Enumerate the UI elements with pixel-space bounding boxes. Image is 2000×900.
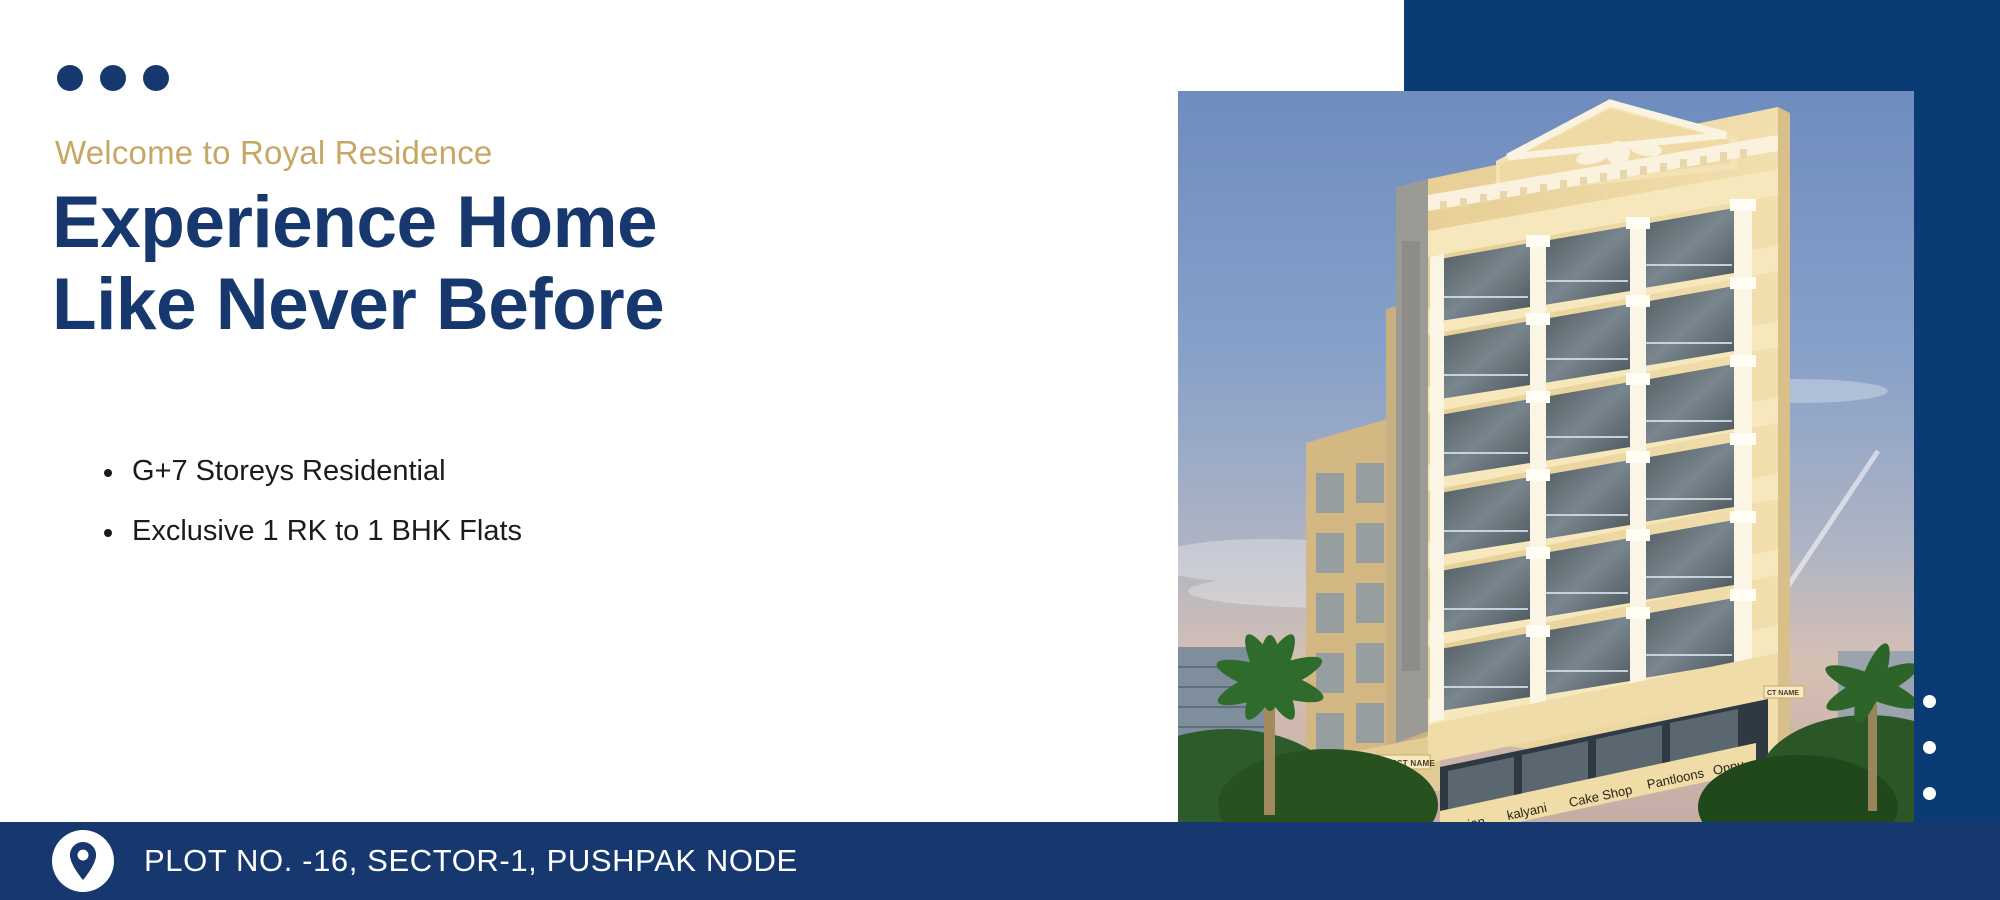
decor-dot: [143, 65, 169, 91]
location-pin-glyph: [68, 842, 98, 880]
building-render-image: PROJECT NAME CT NAME Asian kalyani Cake …: [1178, 91, 1914, 825]
decor-dot: [100, 65, 126, 91]
headline-line-1: Experience Home: [52, 182, 912, 264]
decor-dot: [57, 65, 83, 91]
feature-list: G+7 Storeys Residential Exclusive 1 RK t…: [100, 455, 522, 575]
location-pin-icon: [52, 830, 114, 892]
svg-text:CT NAME: CT NAME: [1767, 690, 1799, 697]
decor-dot: [1923, 695, 1936, 708]
decor-dot: [1923, 741, 1936, 754]
eyebrow-text: Welcome to Royal Residence: [55, 134, 492, 172]
three-dots-decoration: [57, 65, 169, 91]
hero-banner: PROJECT NAME CT NAME Asian kalyani Cake …: [0, 0, 2000, 900]
page-title: Experience Home Like Never Before: [52, 182, 912, 346]
list-item: G+7 Storeys Residential: [100, 455, 522, 488]
address-bar: PLOT NO. -16, SECTOR-1, PUSHPAK NODE: [0, 822, 2000, 900]
headline-line-2: Like Never Before: [52, 264, 912, 346]
address-text: PLOT NO. -16, SECTOR-1, PUSHPAK NODE: [144, 843, 798, 879]
building-illustration: PROJECT NAME CT NAME Asian kalyani Cake …: [1178, 91, 1914, 825]
decor-dot: [1923, 787, 1936, 800]
list-item: Exclusive 1 RK to 1 BHK Flats: [100, 515, 522, 548]
